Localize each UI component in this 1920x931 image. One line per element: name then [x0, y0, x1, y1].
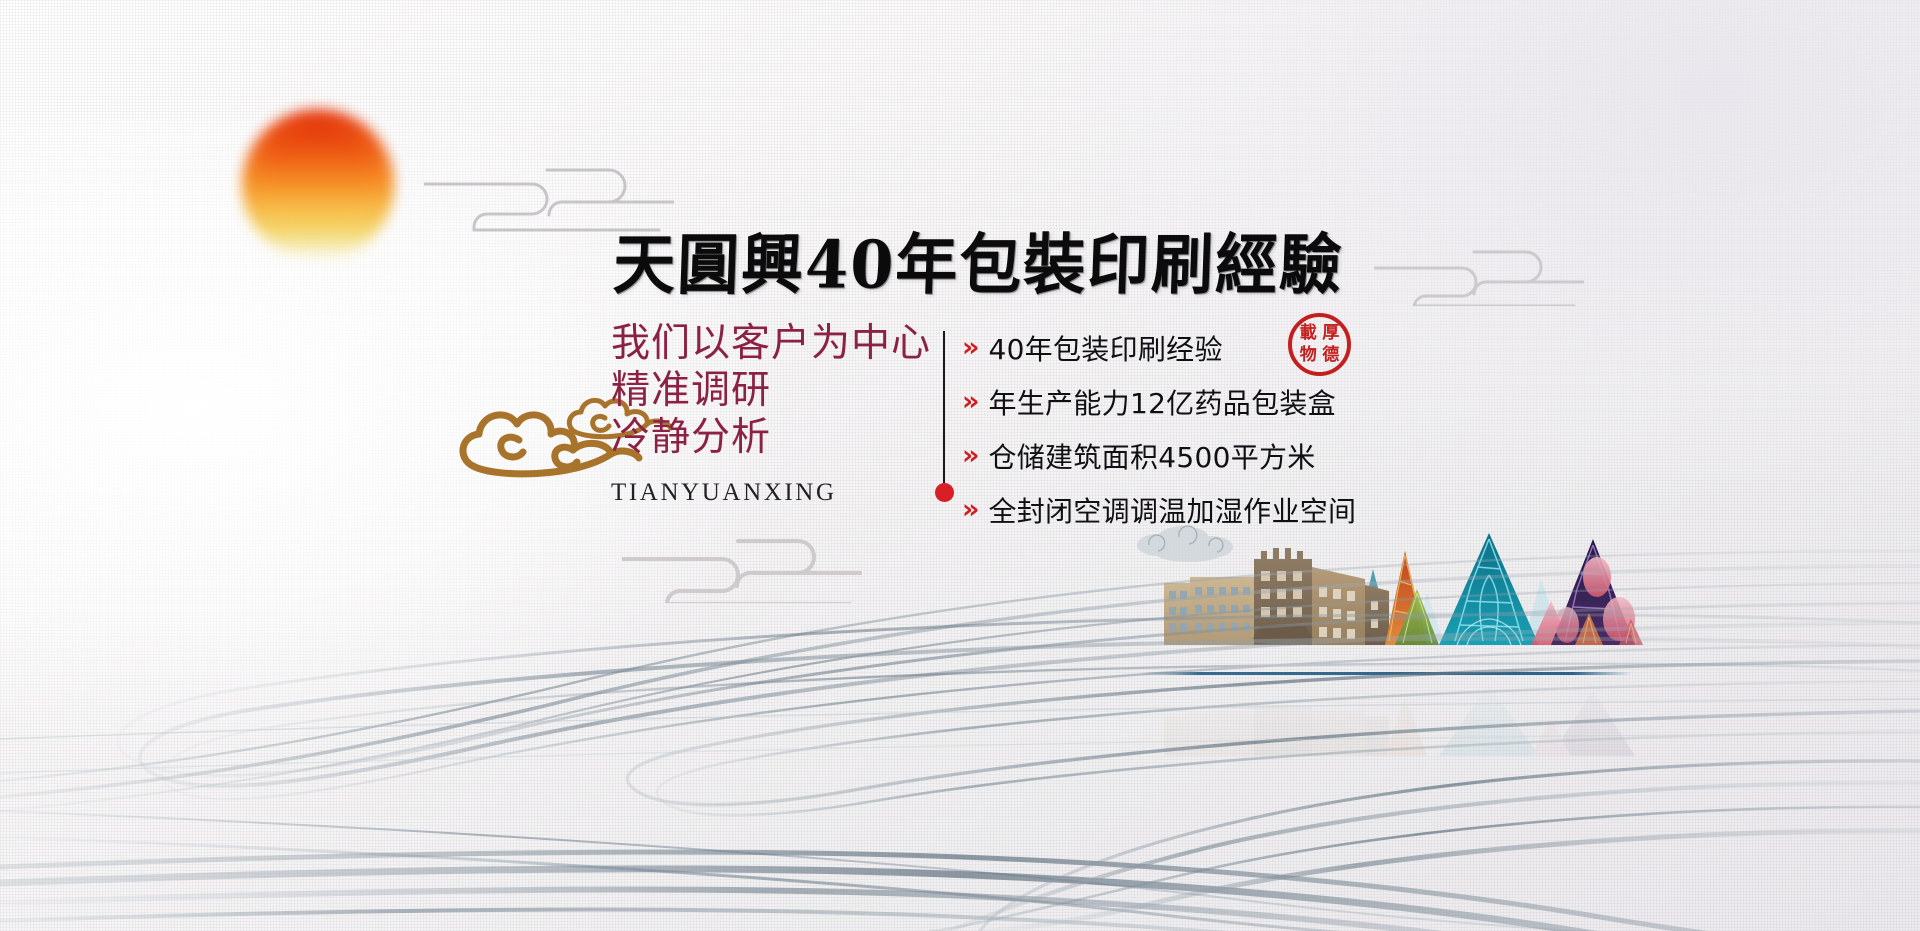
slogan-line-1: 我们以客户为中心: [611, 320, 931, 367]
company-seal-icon: 載 厚 物 德: [1288, 313, 1351, 376]
vertical-divider: [943, 331, 945, 483]
sun-core-icon: [252, 120, 384, 252]
cloud-motif-icon-2: [1374, 238, 1584, 306]
slogan-line-3: 冷静分析: [611, 414, 931, 461]
cloud-motif-icon-1: [424, 152, 674, 232]
scene-ground-line: [1140, 672, 1632, 675]
seal-characters: 載 厚 物 德: [1297, 322, 1342, 367]
list-item: » 年生产能力12亿药品包装盒: [962, 380, 1356, 423]
hero-banner: 天圓興40年包裝印刷經驗 我们以客户为中心 精准调研 冷静分析 TIANYUAN…: [0, 0, 1920, 931]
seal-char-tr: 厚: [1322, 325, 1339, 342]
chevron-right-icon: »: [962, 388, 979, 415]
scene-reflection: [1127, 676, 1647, 756]
building-mountain-illustration: [1127, 515, 1647, 680]
slogan-line-2: 精准调研: [611, 367, 931, 414]
scene-cloud: [1137, 526, 1233, 562]
page-title: 天圓興40年包裝印刷經驗: [612, 232, 1345, 298]
divider-dot-icon: [935, 483, 954, 502]
seal-char-tl: 載: [1300, 325, 1317, 342]
list-item-label: 年生产能力12亿药品包装盒: [988, 382, 1336, 422]
seal-char-bl: 物: [1300, 347, 1317, 364]
chevron-right-icon: »: [962, 334, 979, 361]
list-item-label: 仓储建筑面积4500平方米: [988, 436, 1315, 476]
cloud-motif-icon-3: [622, 525, 862, 603]
chevron-right-icon: »: [962, 496, 979, 523]
list-item: » 仓储建筑面积4500平方米: [962, 434, 1356, 477]
brand-pinyin: TIANYUANXING: [611, 469, 931, 516]
seal-char-br: 德: [1322, 347, 1339, 364]
slogan-block: 我们以客户为中心 精准调研 冷静分析 TIANYUANXING: [611, 320, 931, 516]
list-item-label: 40年包装印刷经验: [988, 328, 1222, 368]
chevron-right-icon: »: [962, 442, 979, 469]
